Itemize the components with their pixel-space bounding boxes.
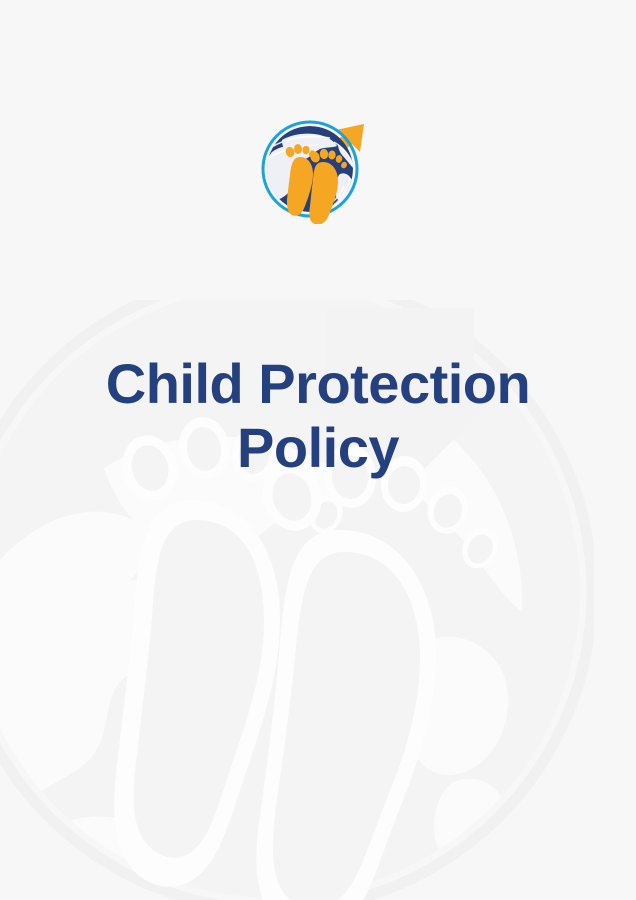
page-title-line-2: Policy xyxy=(0,416,636,480)
logo-block xyxy=(0,112,636,224)
page-title-line-1: Child Protection xyxy=(0,352,636,416)
watermark-footprint-left xyxy=(114,414,349,887)
watermark-footprint-right xyxy=(254,441,504,900)
watermark-footprint-right-shade xyxy=(267,453,497,900)
watermark-footprint-left-shade xyxy=(126,425,341,858)
child-protection-globe-footprints-logo xyxy=(260,112,376,224)
page-title: Child Protection Policy xyxy=(0,352,636,480)
document-cover-page: Child Protection Policy xyxy=(0,0,636,900)
